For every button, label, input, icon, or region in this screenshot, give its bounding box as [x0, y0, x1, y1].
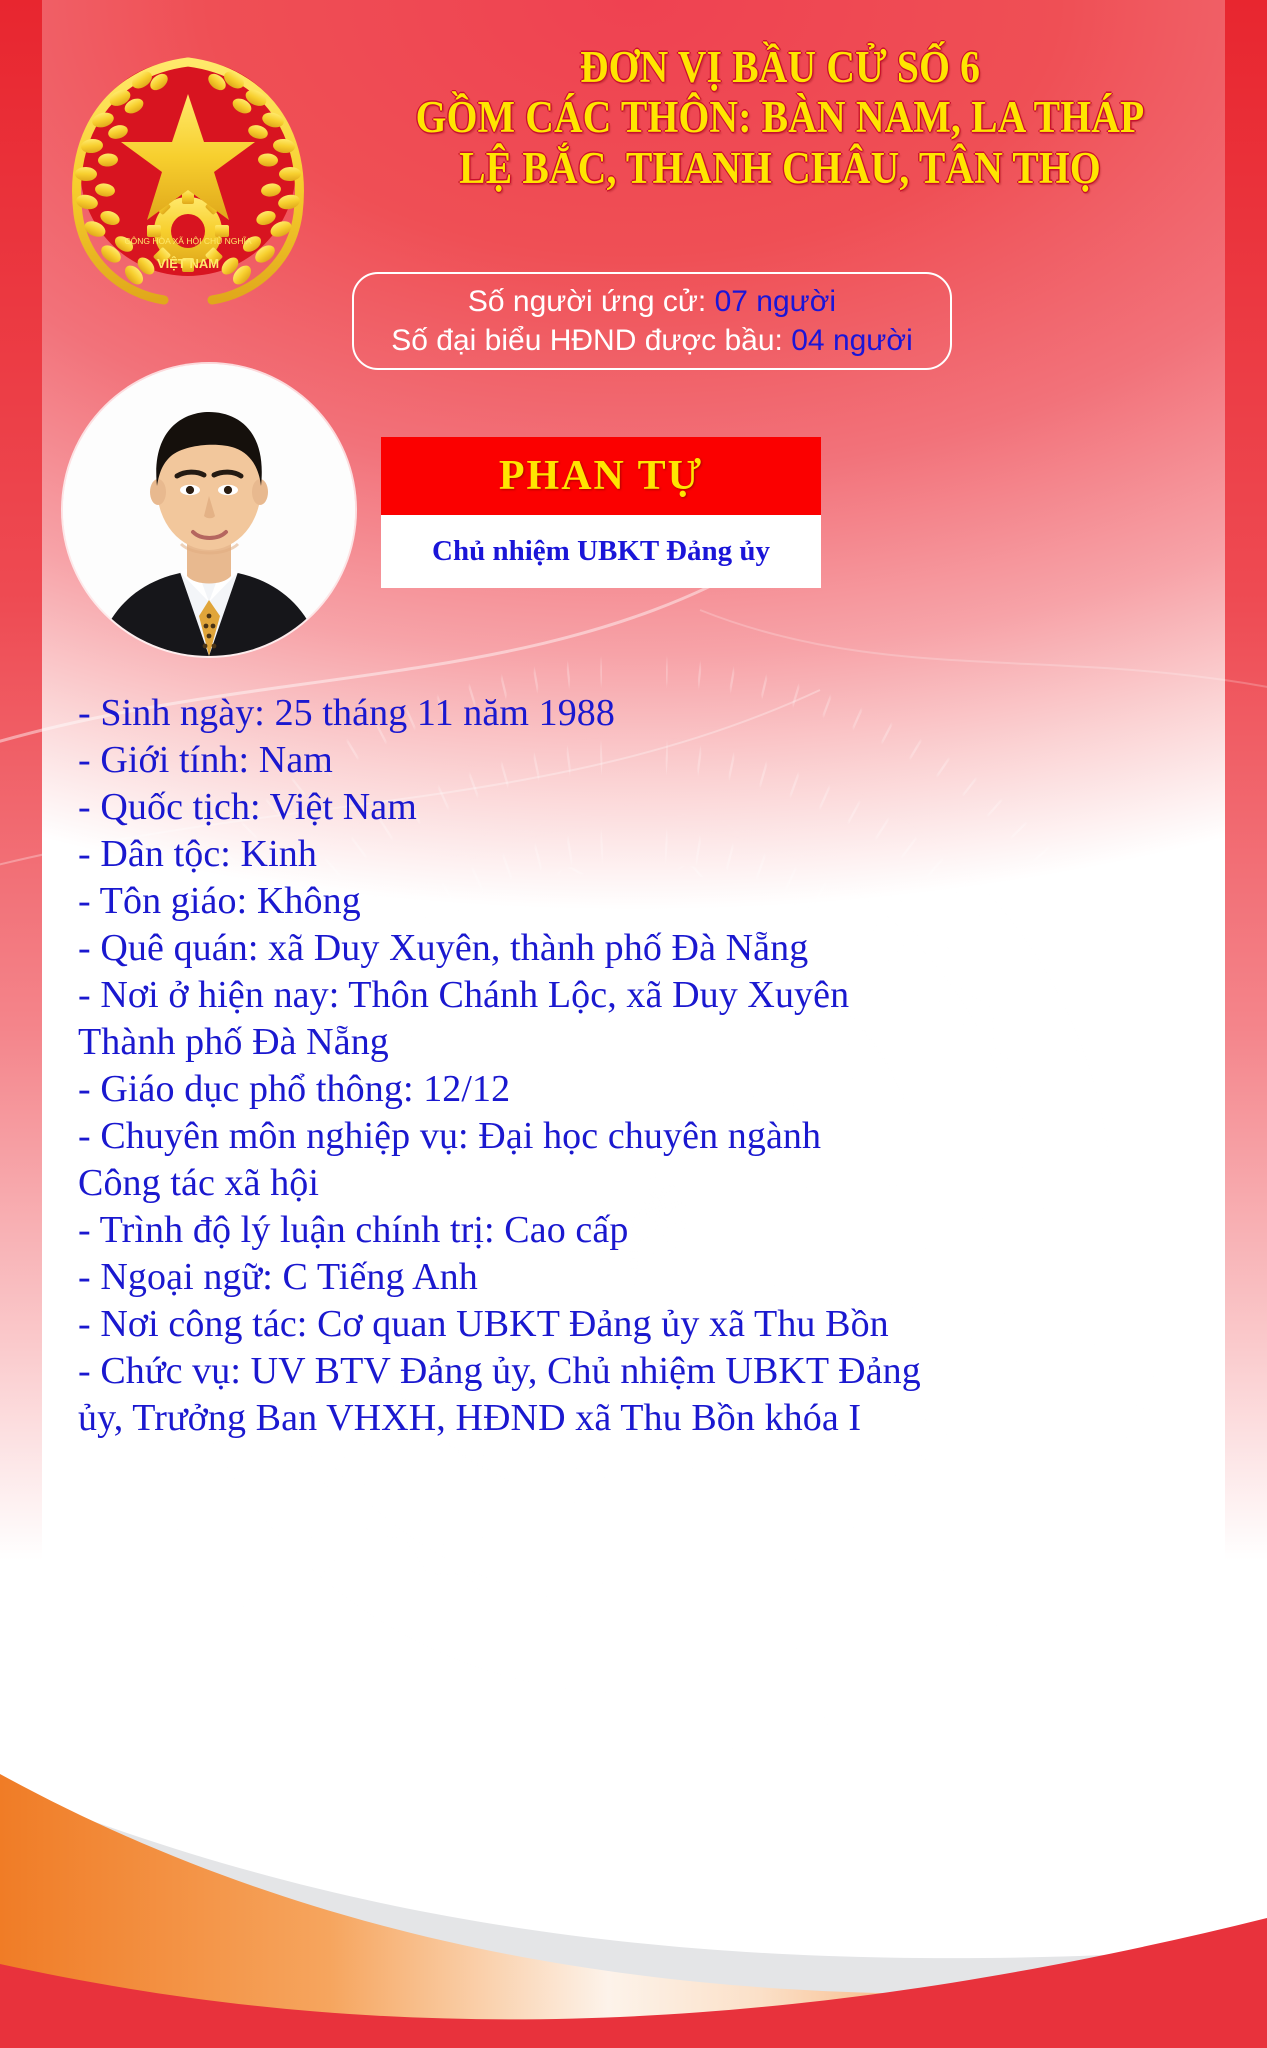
title-line-2: GỒM CÁC THÔN: BÀN NAM, LA THÁP: [384, 92, 1176, 142]
bio-line: - Giáo dục phổ thông: 12/12: [78, 1066, 1188, 1113]
candidate-name: PHAN TỰ: [499, 452, 703, 500]
bio-line: - Giới tính: Nam: [78, 737, 1188, 784]
bio-line: - Quốc tịch: Việt Nam: [78, 784, 1188, 831]
candidates-count-label: Số người ứng cử:: [468, 285, 706, 318]
candidate-role-banner: Chủ nhiệm UBKT Đảng ủy: [381, 515, 821, 588]
bio-line: - Dân tộc: Kinh: [78, 831, 1188, 878]
candidates-count-row: Số người ứng cử: 07 người: [468, 283, 836, 321]
election-candidate-poster: CỘNG HÒA XÃ HỘI CHỦ NGHĨA VIỆT NAM ĐƠN V…: [0, 0, 1267, 2048]
title-line-1: ĐƠN VỊ BẦU CỬ SỐ 6: [384, 42, 1176, 92]
bio-line: - Trình độ lý luận chính trị: Cao cấp: [78, 1207, 1188, 1254]
bio-line: Thành phố Đà Nẵng: [78, 1019, 1188, 1066]
emblem-banner-bottom-text: VIỆT NAM: [157, 256, 219, 271]
bio-line: - Ngoại ngữ: C Tiếng Anh: [78, 1254, 1188, 1301]
election-stats-box: Số người ứng cử: 07 người Số đại biểu HĐ…: [352, 272, 952, 370]
bio-line: - Sinh ngày: 25 tháng 11 năm 1988: [78, 690, 1188, 737]
bio-line: - Nơi công tác: Cơ quan UBKT Đảng ủy xã …: [78, 1301, 1188, 1348]
candidates-count-value: 07 người: [715, 285, 837, 318]
candidate-biography: - Sinh ngày: 25 tháng 11 năm 1988 - Giới…: [78, 690, 1188, 1442]
bio-line: - Tôn giáo: Không: [78, 878, 1188, 925]
bio-line: - Nơi ở hiện nay: Thôn Chánh Lộc, xã Duy…: [78, 972, 1188, 1019]
candidate-portrait: [63, 364, 355, 656]
vietnam-national-emblem: CỘNG HÒA XÃ HỘI CHỦ NGHĨA VIỆT NAM: [38, 18, 338, 318]
bio-line: Công tác xã hội: [78, 1160, 1188, 1207]
bio-line: - Chức vụ: UV BTV Đảng ủy, Chủ nhiệm UBK…: [78, 1348, 1188, 1395]
candidate-name-banner: PHAN TỰ: [381, 437, 821, 515]
candidate-role: Chủ nhiệm UBKT Đảng ủy: [432, 535, 770, 568]
title-line-3: LỆ BẮC, THANH CHÂU, TÂN THỌ: [384, 143, 1176, 193]
bio-line: ủy, Trưởng Ban VHXH, HĐND xã Thu Bồn khó…: [78, 1395, 1188, 1442]
emblem-banner-top-text: CỘNG HÒA XÃ HỘI CHỦ NGHĨA: [124, 235, 251, 246]
seats-count-label: Số đại biểu HĐND được bầu:: [391, 324, 783, 357]
bio-line: - Chuyên môn nghiệp vụ: Đại học chuyên n…: [78, 1113, 1188, 1160]
bio-line: - Quê quán: xã Duy Xuyên, thành phố Đà N…: [78, 925, 1188, 972]
seats-count-row: Số đại biểu HĐND được bầu: 04 người: [391, 322, 912, 360]
poster-title-block: ĐƠN VỊ BẦU CỬ SỐ 6 GỒM CÁC THÔN: BÀN NAM…: [330, 42, 1230, 193]
right-red-edge: [1225, 0, 1267, 1560]
seats-count-value: 04 người: [791, 324, 913, 357]
left-red-edge: [0, 0, 42, 1560]
bottom-wave-decoration: [0, 1768, 1267, 2048]
